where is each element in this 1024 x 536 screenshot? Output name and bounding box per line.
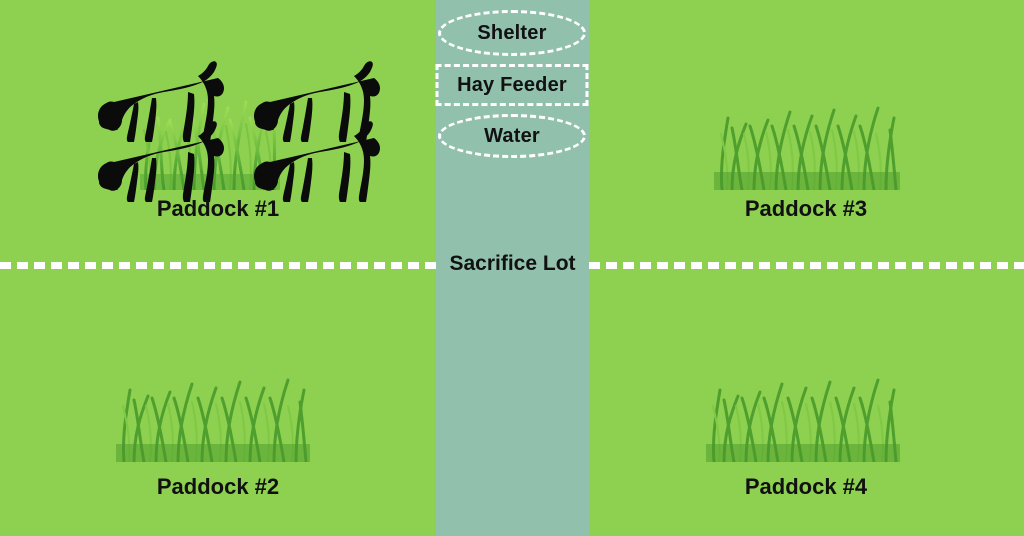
facility-shelter[interactable]: Shelter — [438, 10, 586, 56]
fence-line-horizontal-right — [589, 262, 1024, 269]
fence-line-horizontal-left — [0, 262, 436, 269]
paddock-label-2: Paddock #2 — [28, 474, 408, 500]
paddock-layout-diagram: Shelter Hay Feeder Water Sacrifice Lot — [0, 0, 1024, 536]
grass-patch-icon-paddock-2 — [116, 378, 310, 462]
grass-patch-icon-paddock-3 — [714, 106, 900, 190]
grass-patch-icon-paddock-4 — [706, 378, 900, 462]
horse-grazing-icon — [248, 118, 384, 204]
facility-hay-feeder-label: Hay Feeder — [457, 74, 567, 97]
facility-water[interactable]: Water — [438, 114, 586, 158]
horse-grazing-icon — [92, 118, 228, 204]
paddock-label-3: Paddock #3 — [616, 196, 996, 222]
sacrifice-lot-label: Sacrifice Lot — [436, 252, 589, 276]
facility-hay-feeder[interactable]: Hay Feeder — [436, 64, 589, 106]
facility-shelter-label: Shelter — [477, 22, 546, 45]
facility-water-label: Water — [484, 125, 540, 148]
paddock-label-4: Paddock #4 — [616, 474, 996, 500]
paddock-label-1: Paddock #1 — [28, 196, 408, 222]
